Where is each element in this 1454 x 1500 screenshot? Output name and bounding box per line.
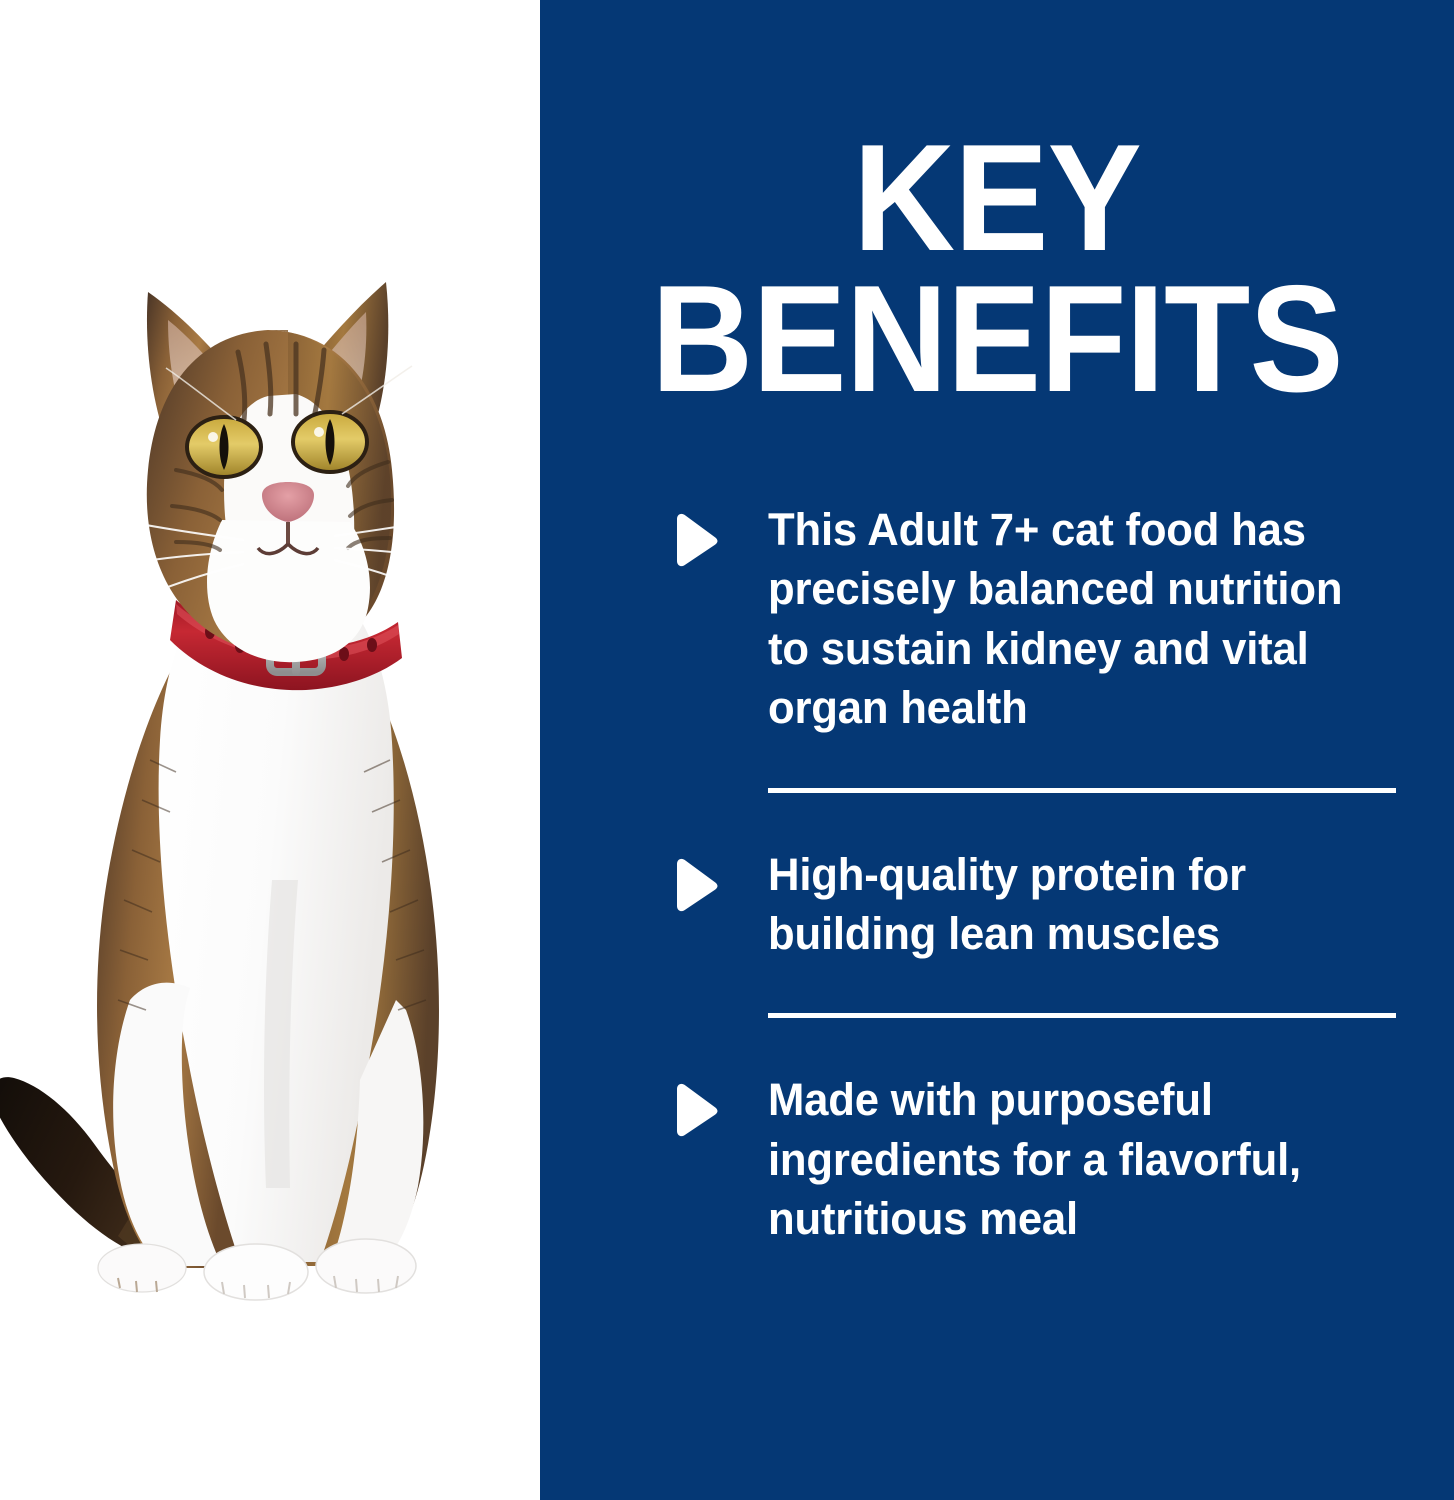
benefit-item: High-quality protein for building lean m…: [670, 845, 1410, 964]
key-benefits-panel: KEY BENEFITS This Adult 7+ cat food has …: [540, 0, 1454, 1500]
benefit-text: High-quality protein for building lean m…: [768, 845, 1391, 964]
cat-paws: [98, 1239, 416, 1300]
play-triangle-icon: [670, 845, 768, 912]
benefit-text: Made with purposeful ingredients for a f…: [768, 1070, 1391, 1248]
benefit-text: This Adult 7+ cat food has precisely bal…: [768, 500, 1391, 738]
page-title-line-1: KEY: [572, 128, 1422, 269]
play-triangle-icon: [670, 1070, 768, 1137]
benefit-item: Made with purposeful ingredients for a f…: [670, 1070, 1410, 1248]
benefits-list: This Adult 7+ cat food has precisely bal…: [670, 500, 1410, 1249]
play-triangle-icon: [670, 500, 768, 567]
page-title-line-2: BENEFITS: [572, 269, 1422, 410]
cat-photo: [0, 0, 540, 1500]
benefit-item: This Adult 7+ cat food has precisely bal…: [670, 500, 1410, 738]
key-benefits-marketing-image: KEY BENEFITS This Adult 7+ cat food has …: [0, 0, 1454, 1500]
page-title: KEY BENEFITS: [572, 128, 1422, 411]
product-photo-panel: [0, 0, 540, 1500]
